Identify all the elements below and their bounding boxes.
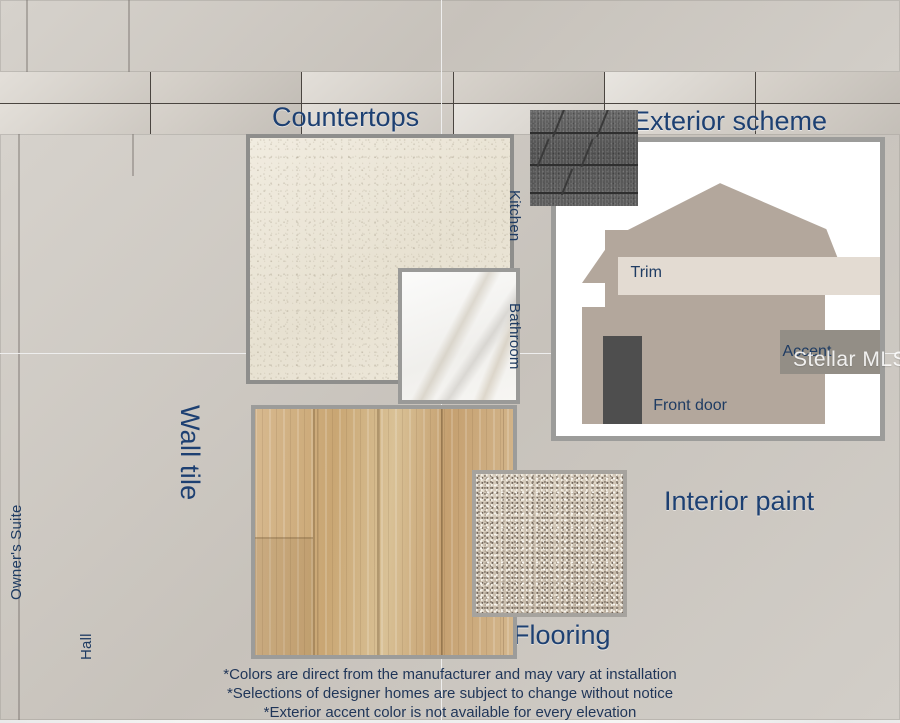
label-countertop-kitchen: Kitchen [506, 190, 523, 241]
tile-grout-line [128, 0, 130, 72]
section-heading-interior-paint: Interior paint [664, 488, 814, 515]
plank-seam [313, 409, 315, 655]
label-countertop-bathroom: Bathroom [506, 303, 523, 370]
section-heading-flooring: Flooring [513, 622, 611, 649]
tile-grout-line [26, 0, 28, 72]
shingle-course-line [530, 132, 638, 134]
tile-lower-field [0, 134, 168, 243]
roof-shingle-swatch [530, 110, 638, 206]
shingle-course-line [530, 192, 638, 194]
footer-disclaimer-line-3: *Exterior accent color is not available … [0, 703, 900, 723]
section-heading-wall-tile: Wall tile [174, 405, 205, 500]
mosaic-tile [151, 72, 168, 103]
front-door-label: Front door [653, 397, 727, 415]
mosaic-tile [0, 72, 150, 103]
footer-disclaimer-line-2: *Selections of designer homes are subjec… [0, 684, 900, 704]
design-selection-board: 6013 BALLAST DRIVE Shelby at Cypress Rid… [0, 0, 900, 720]
mosaic-tile [151, 104, 168, 135]
plank-shade [255, 539, 313, 655]
trim-label: Trim [631, 264, 662, 282]
plank-seam [377, 409, 379, 655]
stellar-mls-watermark: Stellar MLS [793, 348, 900, 372]
label-wall-tile-owners-suite: Owner's Suite [8, 504, 25, 600]
mosaic-tile [0, 104, 150, 135]
plank-seam [441, 409, 443, 655]
wall-tile-owners-suite-swatch [0, 0, 168, 243]
section-heading-exterior-scheme: Exterior scheme [632, 108, 827, 135]
flooring-carpet-swatch [472, 470, 627, 617]
label-wall-tile-hall: Hall [78, 633, 95, 660]
section-heading-countertops: Countertops [272, 104, 419, 131]
shingle-course-line [530, 164, 638, 166]
tile-grout-line [132, 134, 134, 176]
tile-grout-line [18, 134, 20, 243]
front-door-swatch [603, 336, 642, 424]
footer-disclaimer-line-1: *Colors are direct from the manufacturer… [0, 665, 900, 685]
countertop-bathroom-swatch [398, 268, 520, 404]
mosaic-accent-band [0, 72, 168, 134]
